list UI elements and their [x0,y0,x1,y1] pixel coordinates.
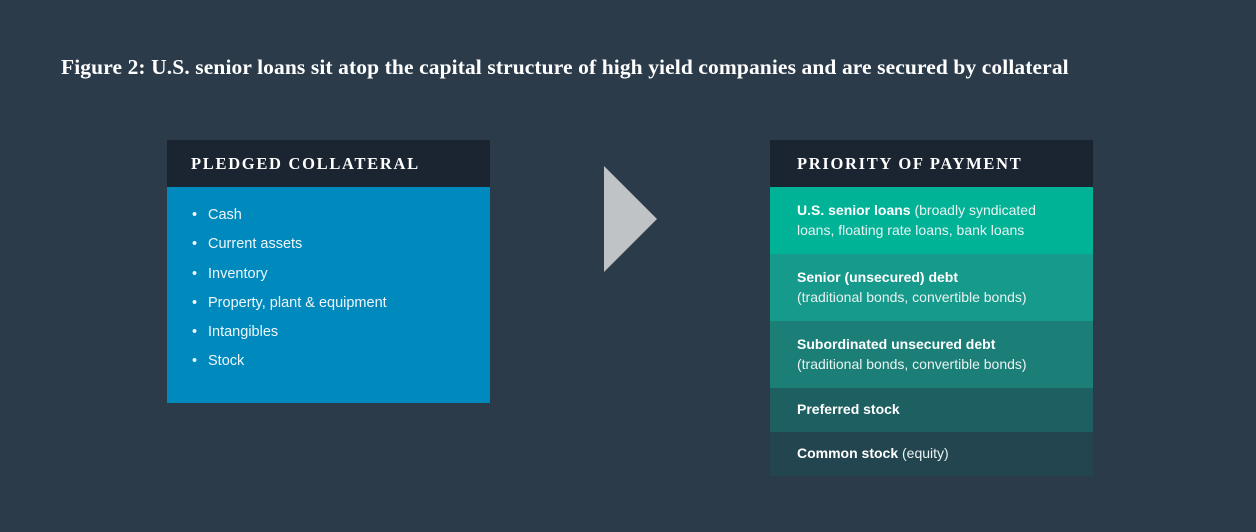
priority-rows: U.S. senior loans (broadly syndicated lo… [770,187,1093,476]
priority-row: U.S. senior loans (broadly syndicated lo… [770,187,1093,254]
collateral-list-item: •Intangibles [167,318,490,347]
priority-row-text: Senior (unsecured) debt(traditional bond… [797,268,1073,307]
triangle-right-icon [604,166,657,272]
priority-of-payment-header: PRIORITY OF PAYMENT [770,140,1093,187]
collateral-list-item-label: Current assets [208,236,302,252]
figure-title: Figure 2: U.S. senior loans sit atop the… [61,53,1171,81]
priority-row-text: Subordinated unsecured debt(traditional … [797,335,1073,374]
collateral-list-item-label: Cash [208,207,242,223]
bullet-icon: • [192,201,197,230]
collateral-list-item: •Current assets [167,230,490,259]
pledged-collateral-header-label: PLEDGED COLLATERAL [191,154,420,174]
priority-row-text: Common stock (equity) [797,444,1073,464]
bullet-icon: • [192,347,197,376]
priority-of-payment-header-label: PRIORITY OF PAYMENT [797,154,1022,174]
priority-row-text: U.S. senior loans (broadly syndicated lo… [797,201,1073,240]
priority-row: Subordinated unsecured debt(traditional … [770,321,1093,388]
priority-row: Common stock (equity) [770,432,1093,476]
bullet-icon: • [192,230,197,259]
collateral-list-item-label: Intangibles [208,324,278,340]
priority-row: Senior (unsecured) debt(traditional bond… [770,254,1093,321]
priority-row-title: Preferred stock [797,401,900,417]
priority-row-detail: (equity) [898,445,949,461]
collateral-list-item-label: Property, plant & equipment [208,295,387,311]
collateral-list-item: •Cash [167,201,490,230]
priority-row-detail: (traditional bonds, convertible bonds) [797,288,1073,308]
priority-row: Preferred stock [770,388,1093,432]
priority-row-title: Common stock [797,445,898,461]
bullet-icon: • [192,318,197,347]
collateral-list-item: •Stock [167,347,490,376]
figure-container: Figure 2: U.S. senior loans sit atop the… [0,0,1256,532]
priority-row-title: Senior (unsecured) debt [797,269,958,285]
priority-row-detail: (traditional bonds, convertible bonds) [797,355,1073,375]
collateral-list-item: •Inventory [167,260,490,289]
bullet-icon: • [192,260,197,289]
priority-row-text: Preferred stock [797,400,1073,420]
priority-of-payment-panel: PRIORITY OF PAYMENT U.S. senior loans (b… [770,140,1093,476]
bullet-icon: • [192,289,197,318]
collateral-list-item-label: Inventory [208,266,268,282]
pledged-collateral-panel: PLEDGED COLLATERAL •Cash•Current assets•… [167,140,490,403]
collateral-list-item: •Property, plant & equipment [167,289,490,318]
priority-row-title: Subordinated unsecured debt [797,336,995,352]
collateral-list-item-label: Stock [208,353,244,369]
pledged-collateral-header: PLEDGED COLLATERAL [167,140,490,187]
priority-row-title: U.S. senior loans [797,202,911,218]
collateral-list: •Cash•Current assets•Inventory•Property,… [167,201,490,377]
pledged-collateral-body: •Cash•Current assets•Inventory•Property,… [167,187,490,403]
